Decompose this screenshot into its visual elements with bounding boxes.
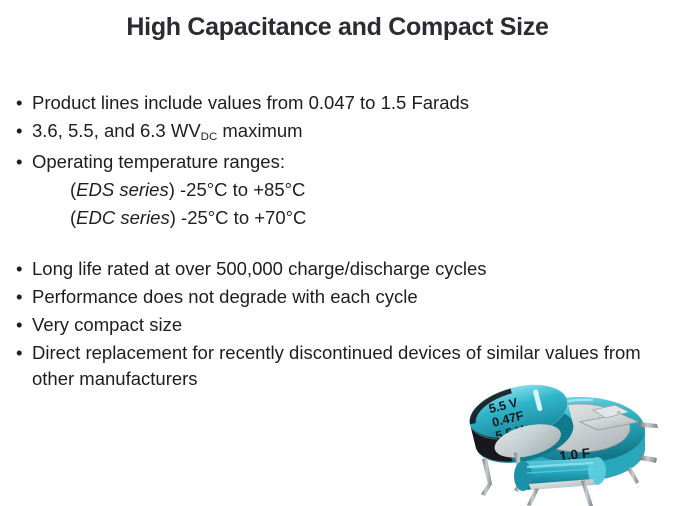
bullet-label: Long life rated at over 500,000 charge/d…: [32, 256, 644, 282]
voltage-text-post: maximum: [217, 120, 302, 141]
bullet-marker: •: [16, 340, 22, 366]
page-title: High Capacitance and Compact Size: [0, 13, 675, 42]
temperature-range: -25°C to +85°C: [175, 179, 306, 200]
bullet-label: Product lines include values from 0.047 …: [32, 90, 644, 116]
bullet-label: Operating temperature ranges:: [32, 149, 644, 175]
sub-bullet-item: (EDS series) -25°C to +85°C: [14, 177, 644, 203]
bullet-item: • Product lines include values from 0.04…: [14, 90, 644, 116]
bullet-marker: •: [16, 312, 22, 338]
bullet-marker: •: [16, 256, 22, 282]
series-name: EDC series: [76, 207, 170, 228]
product-photo-supercapacitors: 1.0 F 5.5V: [443, 372, 675, 506]
bullet-label: Very compact size: [32, 312, 644, 338]
bullet-item: • 3.6, 5.5, and 6.3 WVDC maximum: [14, 118, 644, 147]
slide-body: • Product lines include values from 0.04…: [14, 90, 644, 394]
bullet-marker: •: [16, 90, 22, 116]
bullet-item: • Operating temperature ranges:: [14, 149, 644, 175]
bullet-item: • Long life rated at over 500,000 charge…: [14, 256, 644, 282]
bullet-label: 3.6, 5.5, and 6.3 WVDC maximum: [32, 118, 644, 147]
paragraph-spacer: [14, 233, 644, 256]
bullet-marker: •: [16, 149, 22, 175]
bullet-item: • Performance does not degrade with each…: [14, 284, 644, 310]
bullet-item: • Very compact size: [14, 312, 644, 338]
bullet-marker: •: [16, 118, 22, 144]
bullet-marker: •: [16, 284, 22, 310]
voltage-text-pre: 3.6, 5.5, and 6.3 WV: [32, 120, 201, 141]
slide-canvas: High Capacitance and Compact Size • Prod…: [0, 0, 675, 506]
sub-bullet-item: (EDC series) -25°C to +70°C: [14, 205, 644, 231]
bullet-label: Performance does not degrade with each c…: [32, 284, 644, 310]
series-name: EDS series: [76, 179, 169, 200]
voltage-subscript: DC: [201, 131, 218, 143]
temperature-range: -25°C to +70°C: [176, 207, 307, 228]
